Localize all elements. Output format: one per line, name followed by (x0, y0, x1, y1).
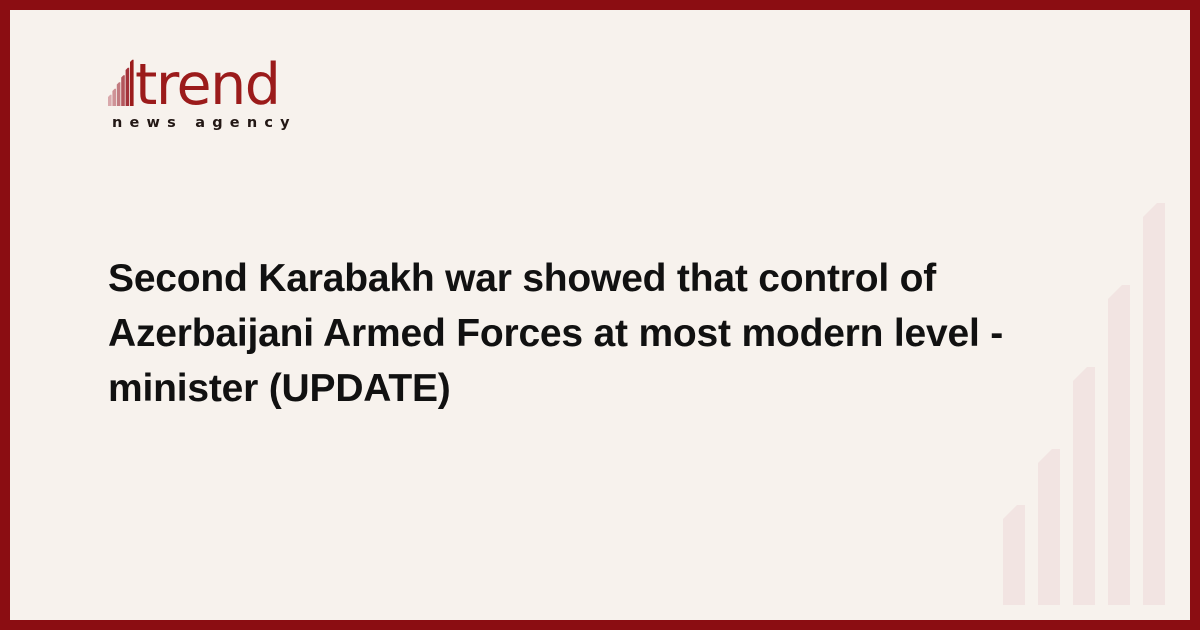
ascending-bars-watermark-icon (1003, 175, 1165, 605)
trend-logo[interactable]: trend news agency (108, 53, 297, 131)
ascending-bars-icon (108, 59, 134, 106)
page-title: Second Karabakh war showed that control … (108, 251, 1008, 416)
share-card: trend news agency Second Karabakh war sh… (0, 0, 1200, 630)
logo-row: trend (108, 53, 297, 111)
logo-wordmark: trend (135, 62, 279, 109)
card-canvas: trend news agency Second Karabakh war sh… (10, 10, 1190, 620)
logo-tagline: news agency (112, 115, 297, 131)
